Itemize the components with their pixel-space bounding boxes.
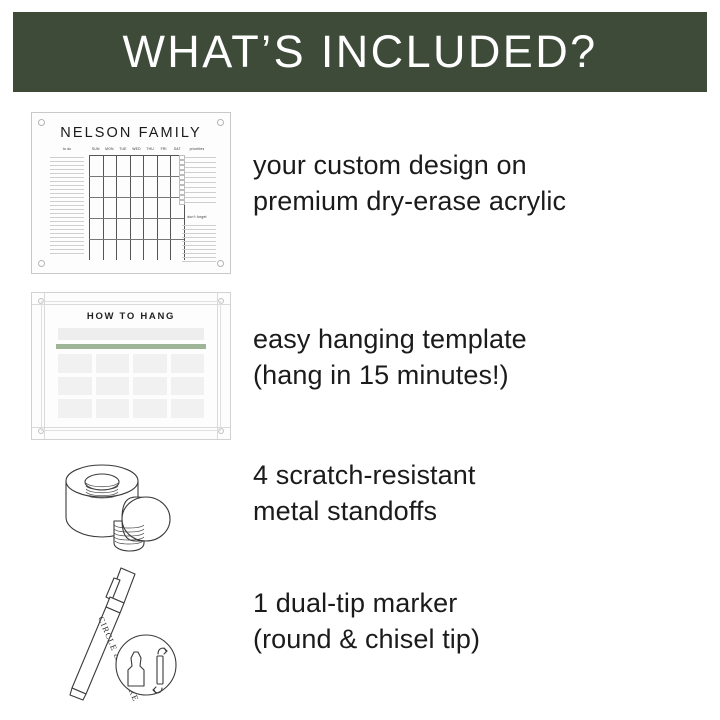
calendar-dont-forget-label: don’t forget: [180, 215, 214, 219]
calendar-column-line: [116, 155, 117, 260]
calendar-priorities-label: priorities: [180, 147, 214, 151]
marker-pen-art: CIRCLE & SQUARE: [68, 566, 183, 701]
item-description-metal-standoffs: 4 scratch-resistant metal standoffs: [253, 458, 475, 529]
standoff-icon: [58, 455, 198, 555]
item-description-dual-tip-marker: 1 dual-tip marker (round & chisel tip): [253, 586, 480, 657]
item-row-acrylic-calendar: your custom design on premium dry-erase …: [253, 148, 566, 219]
calendar-row-line: [89, 176, 184, 177]
standoff-hardware-art: [58, 455, 198, 555]
hanging-template-title: HOW TO HANG: [42, 311, 220, 322]
template-cell: [133, 377, 167, 396]
template-cell: [58, 377, 92, 396]
day-label-fri: FRI: [157, 147, 171, 151]
template-cell: [171, 377, 205, 396]
template-cell: [58, 399, 92, 418]
header-banner: WHAT’S INCLUDED?: [13, 12, 707, 92]
calendar-column-line: [157, 155, 158, 260]
template-cell: [171, 399, 205, 418]
marker-icon: CIRCLE & SQUARE: [68, 566, 183, 701]
calendar-column-line: [143, 155, 144, 260]
template-cell: [133, 399, 167, 418]
calendar-todo-label: to do: [52, 147, 82, 151]
day-label-tue: TUE: [116, 147, 130, 151]
calendar-day-header-row: SUN MON TUE WED THU FRI SAT: [89, 147, 184, 151]
template-cell: [58, 354, 92, 373]
item-row-hanging-template: easy hanging template (hang in 15 minute…: [253, 322, 527, 393]
day-label-sun: SUN: [89, 147, 103, 151]
hanging-template-art: HOW TO HANG: [31, 292, 231, 440]
day-label-thu: THU: [143, 147, 157, 151]
infographic-page: WHAT’S INCLUDED? NELSON FAMILY SUN MON T…: [0, 0, 720, 720]
item-row-dual-tip-marker: 1 dual-tip marker (round & chisel tip): [253, 586, 480, 657]
calendar-row-line: [89, 197, 184, 198]
page-title: WHAT’S INCLUDED?: [122, 26, 597, 78]
calendar-inner: NELSON FAMILY SUN MON TUE WED THU FRI SA…: [36, 117, 226, 269]
calendar-todo-lines: [50, 157, 84, 257]
calendar-family-name: NELSON FAMILY: [36, 125, 226, 141]
template-cell: [96, 399, 130, 418]
day-label-wed: WED: [130, 147, 144, 151]
template-accent-bar: [56, 344, 206, 349]
template-cell: [133, 354, 167, 373]
calendar-board-art: NELSON FAMILY SUN MON TUE WED THU FRI SA…: [31, 112, 231, 274]
calendar-column-line: [130, 155, 131, 260]
template-header-block: [58, 328, 204, 340]
calendar-row-line: [89, 239, 184, 240]
hanging-template-inner: HOW TO HANG: [41, 301, 221, 431]
item-description-acrylic-calendar: your custom design on premium dry-erase …: [253, 148, 566, 219]
calendar-column-line: [103, 155, 104, 260]
calendar-dont-forget-lines: [182, 225, 216, 265]
template-cell: [171, 354, 205, 373]
item-row-metal-standoffs: 4 scratch-resistant metal standoffs: [253, 458, 475, 529]
calendar-column-line: [170, 155, 171, 260]
template-cell: [96, 377, 130, 396]
template-cell: [96, 354, 130, 373]
calendar-row-line: [89, 218, 184, 219]
calendar-grid: [89, 155, 184, 260]
day-label-mon: MON: [103, 147, 117, 151]
item-description-hanging-template: easy hanging template (hang in 15 minute…: [253, 322, 527, 393]
calendar-priorities-checklist: [184, 157, 216, 207]
calendar-column-line: [89, 155, 90, 260]
template-cell-grid: [58, 354, 204, 418]
